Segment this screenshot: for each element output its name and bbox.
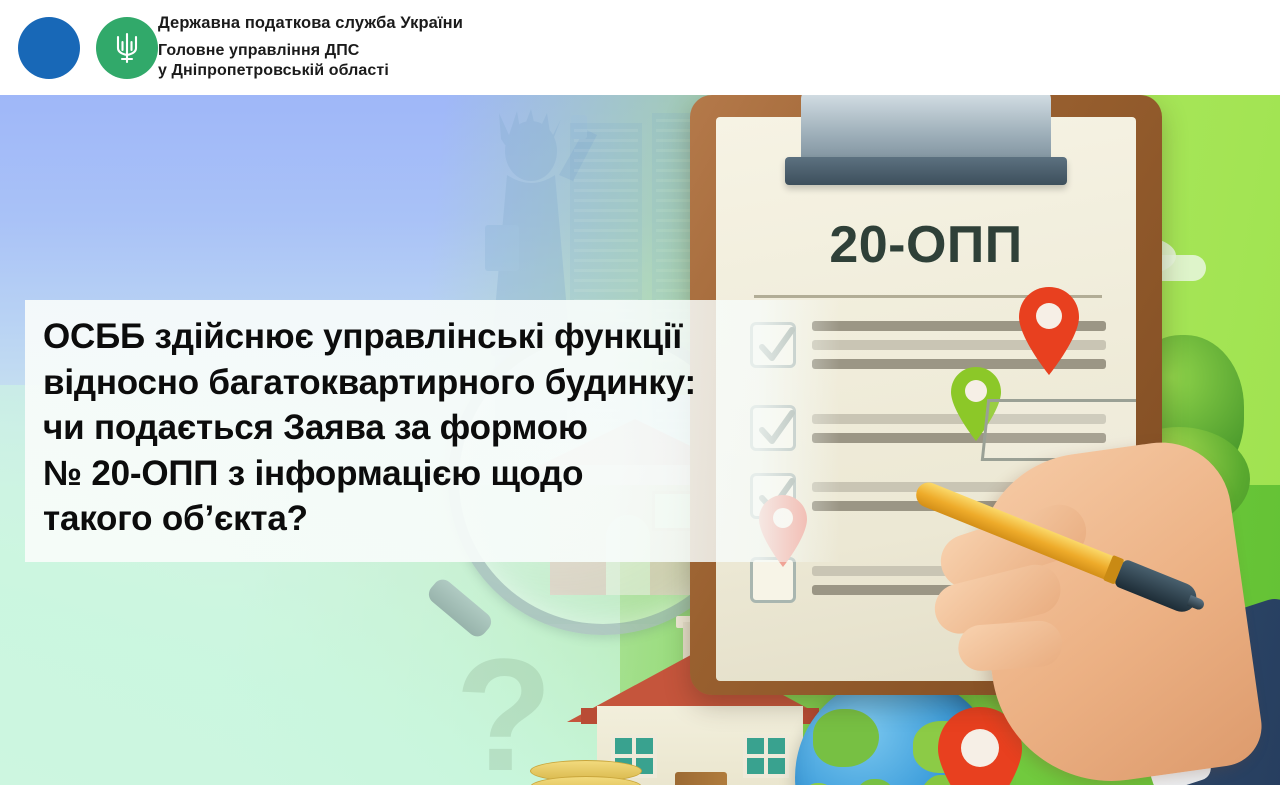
poster-page: Державна податкова служба України Головн… — [0, 0, 1280, 785]
clipboard-clip-base — [801, 95, 1051, 163]
red-map-pin — [1016, 285, 1082, 382]
headline-line: чи подається Заява за формою — [43, 405, 822, 451]
coin-stack — [530, 760, 642, 785]
headline-line: такого об’єкта? — [43, 496, 822, 542]
headline-block: ОСББ здійснює управлінські функції відно… — [25, 300, 840, 562]
form-title: 20-ОПП — [716, 215, 1136, 275]
headline-line: відносно багатоквартирного будинку: — [43, 360, 822, 406]
agency-name-region: у Дніпропетровській області — [158, 61, 463, 81]
logo-green-circle — [96, 17, 158, 79]
agency-name-department: Головне управління ДПС — [158, 41, 463, 61]
agency-logo — [16, 15, 148, 81]
site-header: Державна податкова служба України Головн… — [0, 0, 1280, 95]
ukraine-trident-icon — [114, 31, 140, 65]
headline-line: № 20-ОПП з інформацією щодо — [43, 451, 822, 497]
headline-line: ОСББ здійснює управлінські функції — [43, 314, 822, 360]
agency-name-national: Державна податкова служба України — [158, 13, 463, 34]
clipboard-clip-bar — [785, 157, 1067, 185]
agency-name-block: Державна податкова служба України Головн… — [158, 13, 463, 81]
logo-blue-circle — [18, 17, 80, 79]
